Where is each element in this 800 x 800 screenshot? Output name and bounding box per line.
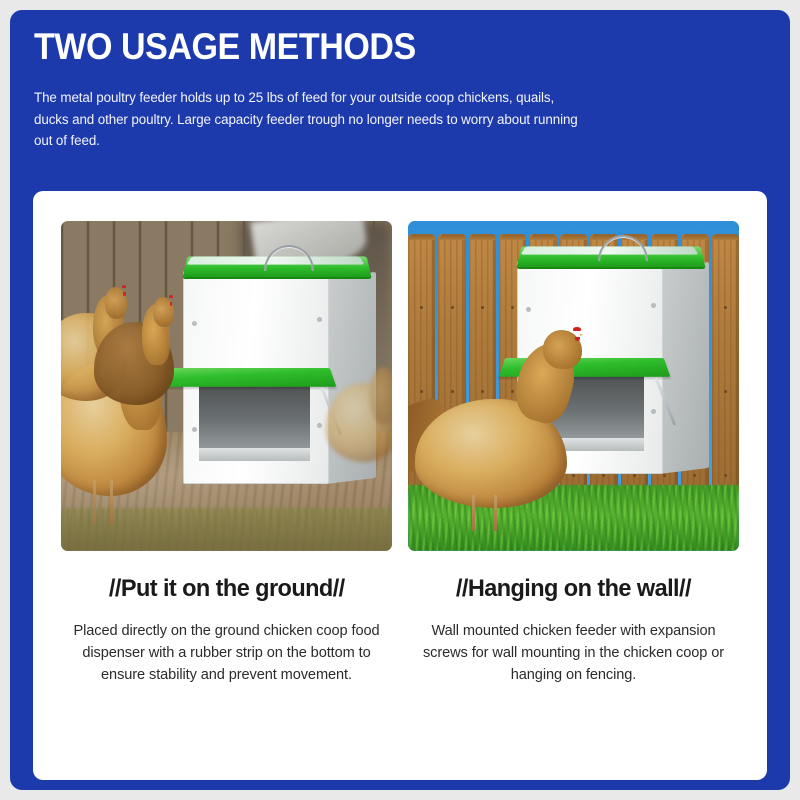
feed-trough-cavity — [199, 381, 310, 453]
page-subtitle: The metal poultry feeder holds up to 25 … — [34, 87, 579, 152]
chicken-comb — [169, 295, 173, 298]
usage-methods-card: //Put it on the ground// Placed directly… — [33, 191, 767, 780]
feeder-screw — [652, 410, 655, 413]
poster-header: TWO USAGE METHODS The metal poultry feed… — [10, 10, 790, 152]
chicken-leg — [472, 495, 475, 531]
chicken-feeding — [415, 366, 567, 531]
fence-picket — [712, 234, 739, 491]
feeder-screw — [193, 428, 196, 431]
feeder-handle — [264, 245, 314, 271]
feeder-screw — [652, 304, 655, 307]
chicken-leg — [110, 480, 113, 525]
feeder-handle — [598, 235, 648, 261]
usage-panel-wall: //Hanging on the wall// Wall mounted chi… — [408, 221, 739, 780]
usage-panel-ground: //Put it on the ground// Placed directly… — [61, 221, 392, 780]
chicken-right-background — [326, 360, 392, 479]
chicken-head — [153, 297, 174, 327]
chicken-wattle — [170, 302, 172, 306]
caption-body-ground: Placed directly on the ground chicken co… — [67, 620, 387, 687]
caption-title-wall: //Hanging on the wall// — [456, 575, 691, 603]
chicken-leg — [494, 495, 497, 531]
chicken-neck — [370, 367, 393, 424]
chicken-leg — [93, 480, 96, 525]
chicken-background-mid — [94, 297, 173, 422]
caption-body-wall: Wall mounted chicken feeder with expansi… — [414, 620, 734, 687]
feeder-screw — [318, 318, 321, 321]
page-title: TWO USAGE METHODS — [34, 28, 707, 67]
chicken-comb — [122, 285, 126, 288]
feeder-screw — [527, 308, 530, 311]
caption-title-ground: //Put it on the ground// — [109, 575, 345, 603]
product-photo-wall — [408, 221, 739, 551]
feeder-screw — [193, 322, 196, 325]
feed-trough-lip — [199, 448, 310, 461]
chicken-wattle — [123, 292, 125, 296]
feeder-screw — [318, 424, 321, 427]
chicken-comb — [573, 327, 581, 331]
poster-background: TWO USAGE METHODS The metal poultry feed… — [10, 10, 790, 790]
chicken-head — [543, 330, 583, 370]
product-photo-ground — [61, 221, 392, 551]
feeder-rain-cover — [165, 368, 337, 387]
chicken-wattle — [575, 337, 579, 342]
